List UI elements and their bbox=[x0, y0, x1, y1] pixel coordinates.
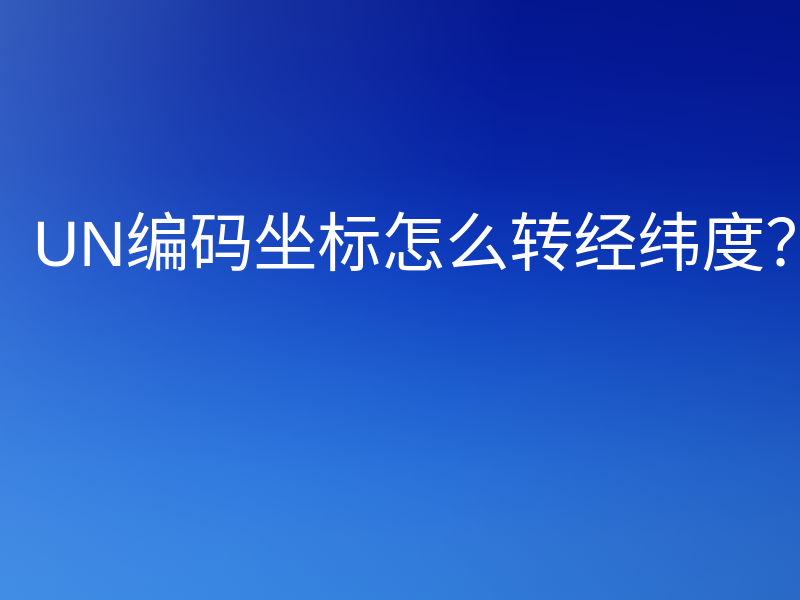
page-title: UN编码坐标怎么转经纬度？ bbox=[33, 212, 793, 276]
gradient-sheen-overlay bbox=[0, 0, 800, 600]
banner-canvas: UN编码坐标怎么转经纬度？ bbox=[0, 0, 800, 600]
